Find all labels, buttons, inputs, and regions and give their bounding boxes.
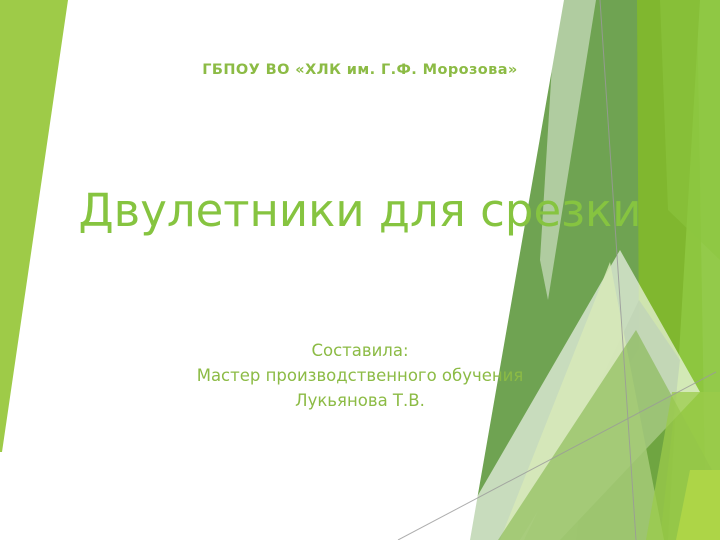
credits-block: Составила: Мастер производственного обуч… <box>60 338 660 413</box>
credits-label: Составила: <box>60 338 660 363</box>
title-slide: ГБПОУ ВО «ХЛК им. Г.Ф. Морозова» Двулетн… <box>0 0 720 540</box>
page-title: Двулетники для срезки <box>30 186 690 236</box>
credits-role: Мастер производственного обучения <box>60 363 660 388</box>
organization-heading: ГБПОУ ВО «ХЛК им. Г.Ф. Морозова» <box>60 62 660 78</box>
credits-name: Лукьянова Т.В. <box>60 388 660 413</box>
slide-text-layer: ГБПОУ ВО «ХЛК им. Г.Ф. Морозова» Двулетн… <box>0 0 720 540</box>
